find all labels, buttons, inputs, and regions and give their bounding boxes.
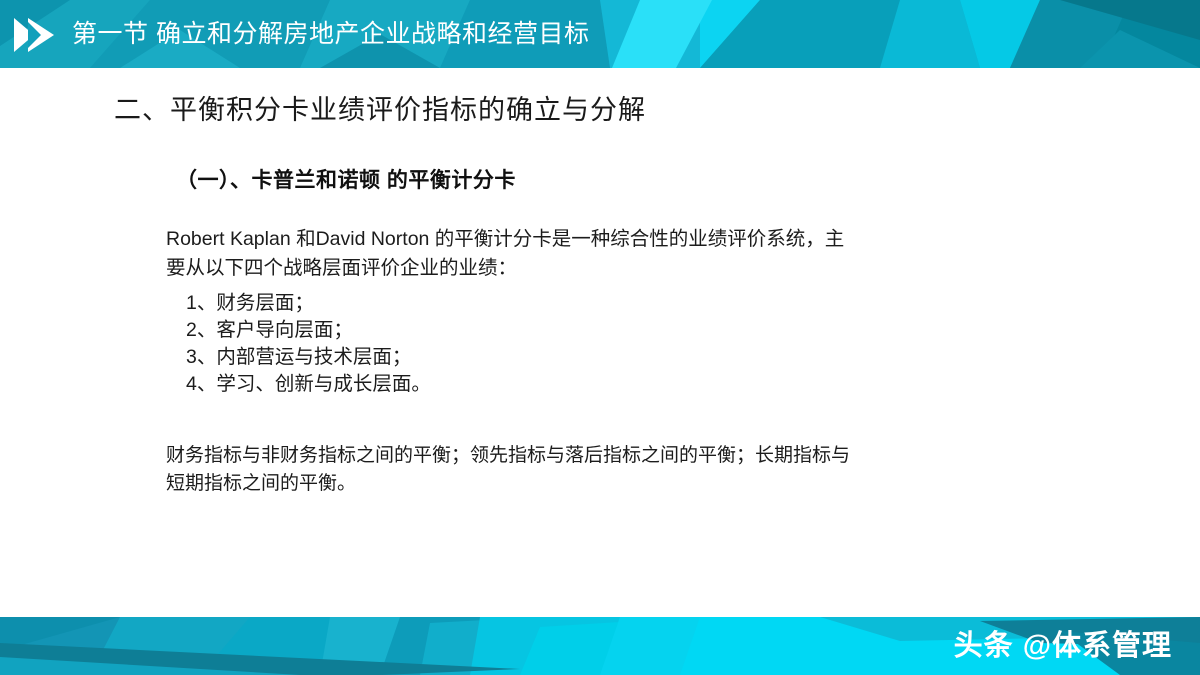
slide-header-band: 第一节 确立和分解房地产企业战略和经营目标 bbox=[0, 0, 1200, 68]
strategic-perspectives-list: 1、财务层面； 2、客户导向层面； 3、内部营运与技术层面； 4、学习、创新与成… bbox=[186, 290, 431, 398]
list-item: 4、学习、创新与成长层面。 bbox=[186, 371, 431, 398]
section-heading: 二、平衡积分卡业绩评价指标的确立与分解 bbox=[114, 88, 646, 127]
intro-paragraph-block: Robert Kaplan 和David Norton 的平衡计分卡是一种综合性… bbox=[166, 225, 856, 283]
closing-paragraph: 财务指标与非财务指标之间的平衡；领先指标与落后指标之间的平衡；长期指标与短期指标… bbox=[166, 442, 866, 498]
slide-footer-band: 头条 @体系管理 bbox=[0, 617, 1200, 675]
sub-heading: （一）、卡普兰和诺顿 的平衡计分卡 bbox=[176, 164, 516, 194]
presentation-slide: 第一节 确立和分解房地产企业战略和经营目标 二、平衡积分卡业绩评价指标的确立与分… bbox=[0, 0, 1200, 675]
slide-content-area: 二、平衡积分卡业绩评价指标的确立与分解 （一）、卡普兰和诺顿 的平衡计分卡 Ro… bbox=[0, 68, 1200, 617]
list-item: 2、客户导向层面； bbox=[186, 317, 431, 344]
intro-paragraph: Robert Kaplan 和David Norton 的平衡计分卡是一种综合性… bbox=[166, 225, 856, 283]
footer-watermark: 头条 @体系管理 bbox=[954, 617, 1172, 675]
list-item: 3、内部营运与技术层面； bbox=[186, 344, 431, 371]
header-title: 第一节 确立和分解房地产企业战略和经营目标 bbox=[72, 0, 589, 68]
list-item: 1、财务层面； bbox=[186, 290, 431, 317]
closing-paragraph-block: 财务指标与非财务指标之间的平衡；领先指标与落后指标之间的平衡；长期指标与短期指标… bbox=[166, 442, 866, 498]
play-triangle-icon bbox=[10, 14, 58, 56]
